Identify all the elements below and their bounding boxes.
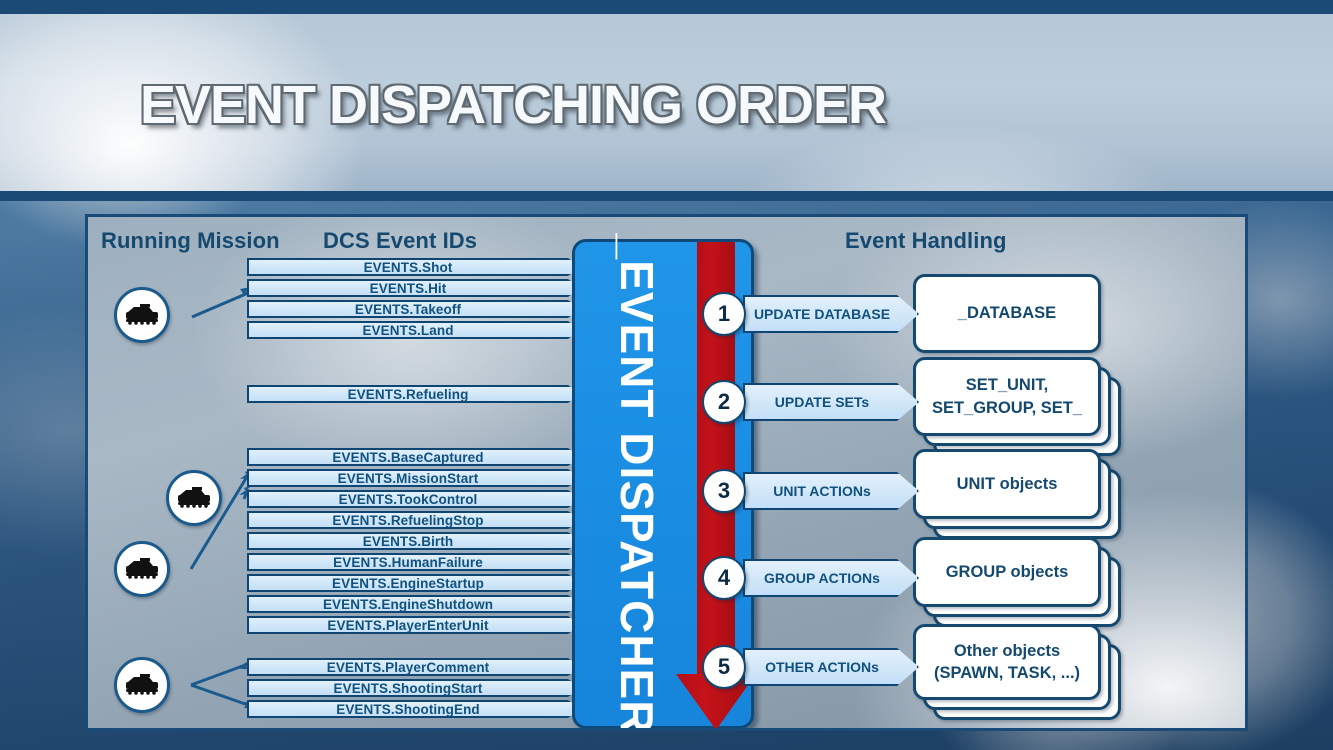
- result-card-line-1: SET_UNIT,: [966, 374, 1049, 396]
- event-band[interactable]: EVENTS.Takeoff: [247, 300, 581, 318]
- event-band[interactable]: EVENTS.Birth: [247, 532, 581, 550]
- event-band[interactable]: EVENTS.MissionStart: [247, 469, 581, 487]
- event-band[interactable]: EVENTS.BaseCaptured: [247, 448, 581, 466]
- result-card-sets[interactable]: SET_UNIT, SET_GROUP, SET_: [913, 357, 1101, 436]
- column-header-dcs-event-ids: DCS Event IDs: [323, 228, 477, 254]
- title-band-rule: [0, 191, 1333, 201]
- event-band[interactable]: EVENTS.TookControl: [247, 490, 581, 508]
- action-band-unit-actions[interactable]: UNIT ACTIONs: [743, 472, 919, 510]
- event-band[interactable]: EVENTS.RefuelingStop: [247, 511, 581, 529]
- event-band[interactable]: EVENTS.HumanFailure: [247, 553, 581, 571]
- column-header-event-handling: Event Handling: [845, 228, 1007, 254]
- tank-glyph: [122, 557, 162, 581]
- event-band[interactable]: EVENTS.Shot: [247, 258, 581, 276]
- page-title: EVENT DISPATCHING ORDER: [140, 74, 886, 136]
- result-card-other-objects[interactable]: Other objects (SPAWN, TASK, ...): [913, 624, 1101, 700]
- action-band-update-database[interactable]: UPDATE DATABASE: [743, 295, 919, 333]
- step-number-5: 5: [702, 645, 746, 689]
- event-band[interactable]: EVENTS.ShootingStart: [247, 679, 581, 697]
- result-card-database[interactable]: _DATABASE: [913, 274, 1101, 353]
- action-band-group-actions[interactable]: GROUP ACTIONs: [743, 559, 919, 597]
- tank-glyph: [174, 486, 214, 510]
- tank-icon-2: [166, 470, 222, 526]
- event-band[interactable]: EVENTS.PlayerEnterUnit: [247, 616, 581, 634]
- tank-glyph: [122, 673, 162, 697]
- event-band[interactable]: EVENTS.Land: [247, 321, 581, 339]
- action-band-update-sets[interactable]: UPDATE SETs: [743, 383, 919, 421]
- tank-icon-3: [114, 541, 170, 597]
- column-header-running-mission: Running Mission: [101, 228, 280, 254]
- action-band-other-actions[interactable]: OTHER ACTIONs: [743, 648, 919, 686]
- step-number-1: 1: [702, 292, 746, 336]
- tank-icon-4: [114, 657, 170, 713]
- result-card-unit-objects[interactable]: UNIT objects: [913, 449, 1101, 519]
- event-band[interactable]: EVENTS.ShootingEnd: [247, 700, 581, 718]
- step-number-3: 3: [702, 469, 746, 513]
- top-rule: [0, 0, 1333, 14]
- result-card-line-1: Other objects: [954, 640, 1060, 662]
- event-band[interactable]: EVENTS.EngineShutdown: [247, 595, 581, 613]
- result-card-group-objects[interactable]: GROUP objects: [913, 537, 1101, 607]
- step-number-4: 4: [702, 556, 746, 600]
- event-band[interactable]: EVENTS.PlayerComment: [247, 658, 581, 676]
- result-card-line-2: SET_GROUP, SET_: [932, 397, 1082, 419]
- main-panel: Running Mission DCS Event IDs Event Hand…: [85, 214, 1248, 731]
- tank-glyph: [122, 303, 162, 327]
- tank-icon-1: [114, 287, 170, 343]
- dispatcher-label: _EVENT DISPATCHER: [610, 234, 664, 731]
- result-card-line-2: (SPAWN, TASK, ...): [934, 662, 1080, 684]
- event-band[interactable]: EVENTS.Refueling: [247, 385, 581, 403]
- event-band[interactable]: EVENTS.EngineStartup: [247, 574, 581, 592]
- event-band[interactable]: EVENTS.Hit: [247, 279, 581, 297]
- step-number-2: 2: [702, 380, 746, 424]
